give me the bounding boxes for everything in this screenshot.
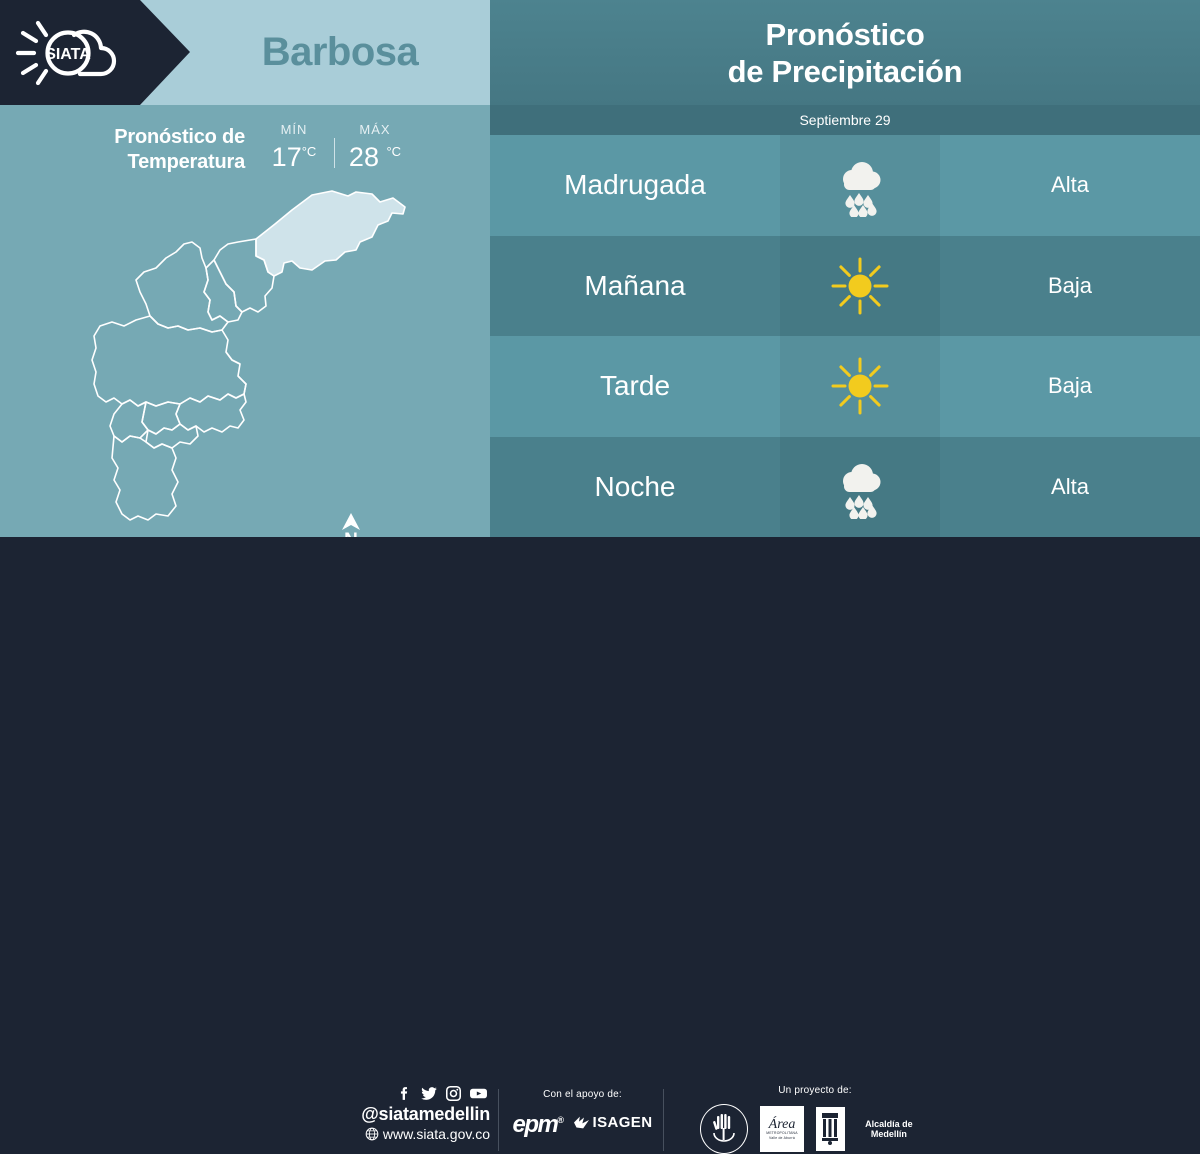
rain-cloud-icon xyxy=(828,455,892,519)
temperature-max-value-wrap: 28 °C xyxy=(344,137,406,172)
sun-icon xyxy=(828,254,892,318)
area-metropolitana-logo[interactable]: Área METROPOLITANA Valle de Aburrá xyxy=(760,1106,804,1152)
footer-divider-2 xyxy=(663,1089,664,1151)
isagen-logo-text: ISAGEN xyxy=(593,1114,653,1131)
map-region-copacabana[interactable] xyxy=(204,260,242,322)
right-panel: Pronóstico de Precipitación Septiembre 2… xyxy=(490,0,1200,537)
footer-divider-1 xyxy=(498,1089,499,1151)
forecast-period-cell: Tarde xyxy=(490,336,780,437)
amva-sub-line2: Valle de Aburrá xyxy=(769,1136,795,1141)
project-logos: Área METROPOLITANA Valle de Aburrá xyxy=(700,1104,930,1154)
map-region-barbosa[interactable] xyxy=(256,191,405,276)
forecast-icon-cell xyxy=(780,236,940,337)
aburra-valley-map: N xyxy=(60,180,480,530)
map-svg xyxy=(60,180,480,530)
amva-script-text: Área xyxy=(769,1118,796,1131)
map-region-caldas[interactable] xyxy=(112,436,178,520)
forecast-probability-cell: Baja xyxy=(940,236,1200,337)
forecast-probability: Baja xyxy=(1048,373,1092,399)
alcaldia-mark xyxy=(816,1107,845,1151)
sun-cloud-icon: SIATA xyxy=(12,16,130,90)
precipitation-header: Pronóstico de Precipitación xyxy=(490,0,1200,105)
website-row[interactable]: www.siata.gov.co xyxy=(330,1125,490,1143)
udea-seal-logo[interactable] xyxy=(700,1104,748,1154)
temperature-max: MÁX 28 °C xyxy=(344,122,406,172)
temperature-min-value-wrap: 17°C xyxy=(263,137,325,172)
precipitation-title-line2: de Precipitación xyxy=(728,53,963,90)
epm-logo[interactable]: epm® xyxy=(513,1108,563,1137)
forecast-period: Tarde xyxy=(600,370,670,402)
siata-logo-wedge[interactable]: SIATA xyxy=(0,0,190,105)
instagram-icon[interactable] xyxy=(445,1085,462,1102)
siata-logo-text: SIATA xyxy=(45,46,91,63)
temperature-title: Pronóstico de Temperatura xyxy=(60,122,245,175)
map-region-envigado[interactable] xyxy=(176,394,246,432)
support-logos: epm® ISAGEN xyxy=(505,1108,660,1137)
forecast-probability: Baja xyxy=(1048,273,1092,299)
forecast-icon-cell xyxy=(780,336,940,437)
temperature-min-value: 17 xyxy=(272,142,302,172)
epm-registered-mark: ® xyxy=(557,1115,562,1125)
forecast-probability-cell: Alta xyxy=(940,135,1200,236)
date-band: Septiembre 29 xyxy=(490,105,1200,135)
social-handle[interactable]: @siatamedellin xyxy=(330,1104,490,1125)
twitter-icon[interactable] xyxy=(420,1085,438,1102)
isagen-logo[interactable]: ISAGEN xyxy=(573,1114,653,1131)
project-block: Un proyecto de: xyxy=(700,1085,930,1154)
youtube-icon[interactable] xyxy=(469,1085,488,1102)
precipitation-title-line1: Pronóstico xyxy=(766,16,925,53)
isagen-mark-icon xyxy=(573,1115,590,1130)
forecast-rows: Madrugada Alta Mañana Baja Tarde xyxy=(490,135,1200,537)
infographic-root: SIATA Barbosa Pronóstico de Temperatura … xyxy=(0,0,1200,630)
forecast-period-cell: Mañana xyxy=(490,236,780,337)
forecast-probability-cell: Baja xyxy=(940,336,1200,437)
left-panel: SIATA Barbosa Pronóstico de Temperatura … xyxy=(0,0,490,537)
temperature-max-unit: °C xyxy=(386,144,401,159)
forecast-probability: Alta xyxy=(1051,172,1089,198)
globe-icon xyxy=(365,1127,379,1141)
forecast-row: Mañana Baja xyxy=(490,236,1200,337)
map-region-border-detail xyxy=(226,352,246,394)
left-header: SIATA Barbosa xyxy=(0,0,490,105)
forecast-period: Mañana xyxy=(584,270,685,302)
temperature-block: Pronóstico de Temperatura MÍN 17°C MÁX 2… xyxy=(60,122,420,182)
temperature-title-line1: Pronóstico de xyxy=(60,125,245,150)
project-caption: Un proyecto de: xyxy=(700,1085,930,1096)
map-region-la-estrella[interactable] xyxy=(110,400,148,442)
support-block: Con el apoyo de: epm® ISAGEN xyxy=(505,1089,660,1137)
forecast-period-cell: Noche xyxy=(490,437,780,538)
website-url: www.siata.gov.co xyxy=(383,1125,490,1143)
alcaldia-figure-icon xyxy=(820,1111,840,1147)
map-region-bello[interactable] xyxy=(136,242,228,332)
forecast-date: Septiembre 29 xyxy=(799,112,890,128)
temperature-min: MÍN 17°C xyxy=(263,122,325,172)
rain-cloud-icon xyxy=(828,153,892,217)
forecast-row: Madrugada Alta xyxy=(490,135,1200,236)
forecast-icon-cell xyxy=(780,437,940,538)
temperature-min-unit: °C xyxy=(302,144,317,159)
forecast-probability: Alta xyxy=(1051,474,1089,500)
forecast-icon-cell xyxy=(780,135,940,236)
alcaldia-label: Alcaldía de Medellín xyxy=(848,1119,930,1139)
facebook-icon[interactable] xyxy=(396,1085,413,1102)
social-block: @siatamedellin www.siata.gov.co xyxy=(330,1085,490,1143)
forecast-probability-cell: Alta xyxy=(940,437,1200,538)
temperature-min-label: MÍN xyxy=(263,122,325,137)
forecast-row: Noche Alta xyxy=(490,437,1200,538)
forecast-period-cell: Madrugada xyxy=(490,135,780,236)
alcaldia-logo[interactable]: Alcaldía de Medellín xyxy=(816,1107,930,1151)
temperature-divider xyxy=(334,138,335,168)
udea-hand-icon xyxy=(709,1113,739,1145)
forecast-period: Madrugada xyxy=(564,169,706,201)
city-title: Barbosa xyxy=(190,0,490,105)
forecast-period: Noche xyxy=(595,471,676,503)
epm-logo-text: epm xyxy=(513,1111,558,1138)
temperature-max-label: MÁX xyxy=(344,122,406,137)
north-arrow-icon xyxy=(341,513,361,531)
temperature-title-line2: Temperatura xyxy=(60,150,245,175)
social-icons xyxy=(330,1085,488,1102)
temperature-values: MÍN 17°C MÁX 28 °C xyxy=(263,122,406,172)
sun-icon xyxy=(828,354,892,418)
map-region-sabaneta[interactable] xyxy=(146,424,198,448)
forecast-row: Tarde Baja xyxy=(490,336,1200,437)
support-caption: Con el apoyo de: xyxy=(505,1089,660,1100)
footer: @siatamedellin www.siata.gov.co Con el a… xyxy=(0,537,1200,630)
temperature-max-value: 28 xyxy=(349,142,379,172)
